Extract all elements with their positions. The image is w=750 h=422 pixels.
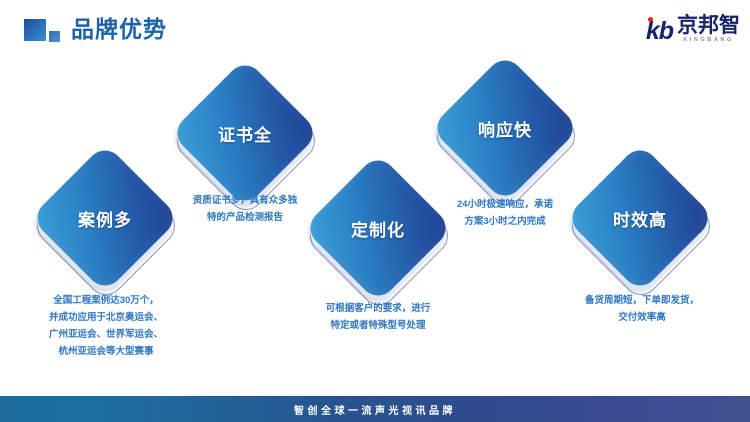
page-title: 品牌优势 xyxy=(71,14,167,44)
logo-chinese-name: 京邦智 xyxy=(677,15,740,37)
slide-header: 品牌优势 kb 京邦智 KINGBANG xyxy=(0,0,750,56)
logo-kb-mark: kb xyxy=(646,18,673,44)
diamond-shape: 响应快 xyxy=(452,75,558,181)
diamond-face xyxy=(565,143,715,293)
slide-root: 品牌优势 kb 京邦智 KINGBANG 案例多 全国工程案例达30万个， 并成… xyxy=(0,0,750,422)
slide-footer: 智创全球一流声光视讯品牌 xyxy=(0,396,750,422)
card-description: 24小时极速响应，承诺 方案3小时之内完成 xyxy=(415,196,595,230)
diamond-shape: 时效高 xyxy=(587,165,693,271)
logo-wordmark: 京邦智 KINGBANG xyxy=(677,15,740,44)
blue-square-icon xyxy=(24,19,46,41)
blue-square-small-icon xyxy=(49,31,60,42)
diamond-shape: 证书全 xyxy=(192,80,298,186)
logo-red-dot-icon xyxy=(648,17,653,22)
footer-slogan: 智创全球一流声光视讯品牌 xyxy=(294,402,456,417)
card-description: 备货周期短，下单即发货， 交付效率高 xyxy=(552,292,732,326)
diamond-face xyxy=(170,58,320,208)
card-description: 资质证书多，具有众多独 特的产品检测报告 xyxy=(155,192,335,226)
card-description: 全国工程案例达30万个， 并成功应用于北京奥运会、 广州亚运会、世界军运会、 杭… xyxy=(0,292,212,360)
brand-logo: kb 京邦智 KINGBANG xyxy=(646,14,740,44)
diamond-face xyxy=(430,53,580,203)
diamond-shape: 案例多 xyxy=(52,165,158,271)
card-description: 可根据客户的要求，进行 特定或者特殊型号处理 xyxy=(288,300,468,334)
logo-english-name: KINGBANG xyxy=(683,36,734,44)
